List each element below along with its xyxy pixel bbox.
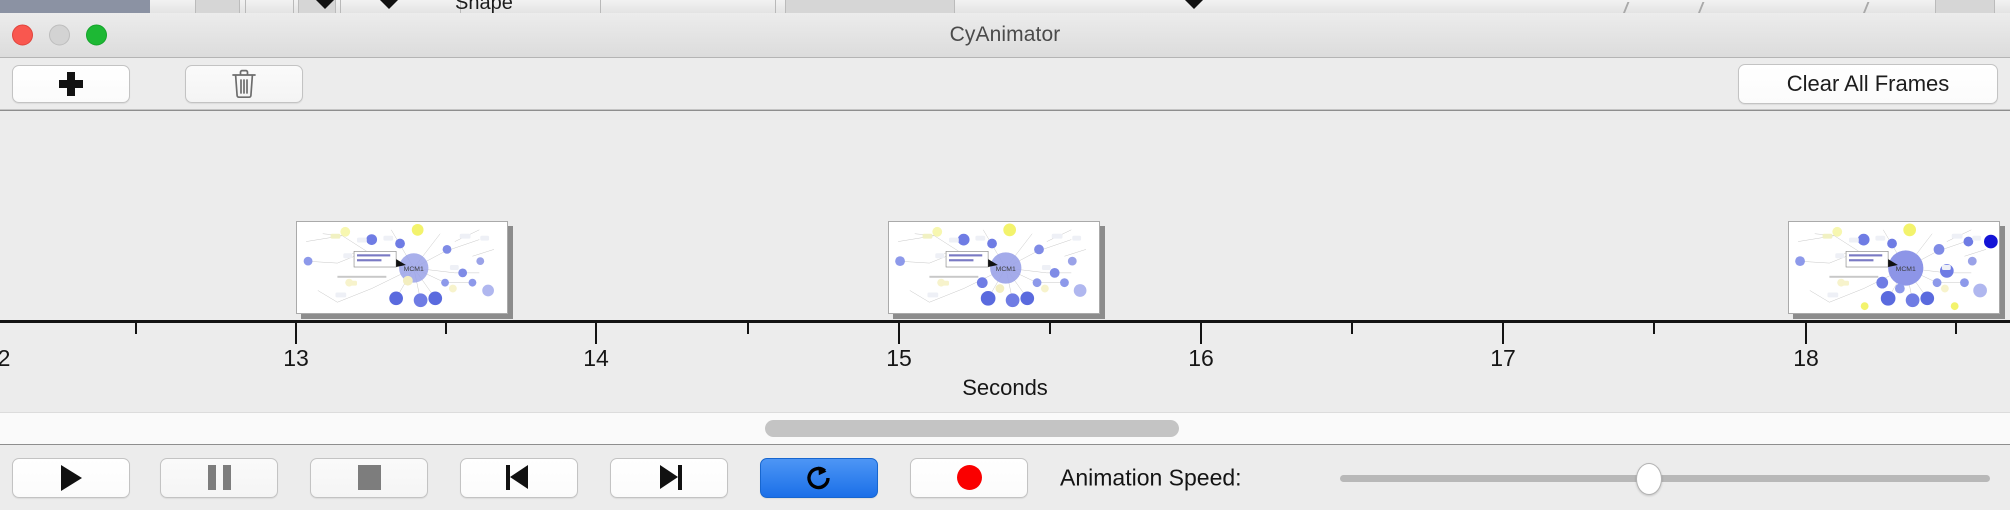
animation-speed-slider[interactable] [1340, 463, 1990, 493]
delete-frame-button[interactable] [185, 65, 303, 103]
background-slash [1698, 2, 1705, 13]
background-caret-icon [380, 0, 398, 9]
ruler-label: 18 [1793, 345, 1819, 372]
ruler-tick-major [295, 323, 297, 344]
background-divider [245, 0, 246, 13]
background-button [1935, 0, 1995, 13]
ruler-label: 13 [283, 345, 309, 372]
record-icon [957, 465, 982, 490]
trash-icon [231, 69, 257, 99]
svg-text:MCM1: MCM1 [996, 266, 1016, 273]
svg-text:MCM1: MCM1 [404, 266, 424, 273]
scrollbar-thumb[interactable] [765, 420, 1179, 437]
ruler-tick-major [595, 323, 597, 344]
ruler-tick-major [1502, 323, 1504, 344]
background-slash [1623, 2, 1630, 13]
ruler-tick-minor [445, 323, 447, 334]
animation-speed-label: Animation Speed: [1060, 464, 1242, 491]
ruler-tick-minor [747, 323, 749, 334]
clear-all-frames-button[interactable]: Clear All Frames [1738, 64, 1998, 104]
close-button[interactable] [12, 25, 33, 46]
ruler-tick-minor [1351, 323, 1353, 334]
stop-button[interactable] [310, 458, 428, 498]
stop-icon [358, 465, 381, 490]
background-divider [775, 0, 776, 13]
timeline-frame-thumbnail[interactable]: MCM1 [296, 221, 508, 314]
play-icon [61, 465, 82, 491]
pause-icon [208, 465, 231, 490]
timeline-horizontal-scrollbar[interactable] [0, 412, 2010, 445]
record-button[interactable] [910, 458, 1028, 498]
pause-button[interactable] [160, 458, 278, 498]
ruler-axis-title: Seconds [0, 375, 2010, 401]
plus-icon [58, 71, 84, 97]
background-divider [600, 0, 601, 13]
background-button [785, 0, 955, 13]
ruler-tick-minor [1955, 323, 1957, 334]
toolbar: Clear All Frames [0, 58, 2010, 110]
background-slash [1863, 2, 1870, 13]
timeline-panel[interactable]: MCM1 [0, 110, 2010, 412]
timeline-ruler[interactable]: 2 13 14 15 16 17 18 Seconds [0, 320, 2010, 412]
background-divider [293, 0, 294, 13]
background-divider [340, 0, 341, 13]
ruler-tick-major [1200, 323, 1202, 344]
ruler-label: 2 [0, 345, 10, 372]
add-frame-button[interactable] [12, 65, 130, 103]
ruler-label: 14 [583, 345, 609, 372]
slider-thumb[interactable] [1636, 463, 1662, 495]
ruler-tick-major [898, 323, 900, 344]
background-window-strip: Shape [0, 0, 2010, 13]
background-button [195, 0, 240, 13]
traffic-lights [12, 25, 107, 46]
window-title: CyAnimator [0, 23, 2010, 47]
timeline-frame-thumbnail[interactable]: MCM1 [1788, 221, 2000, 314]
loop-icon [805, 464, 833, 492]
skip-next-icon [656, 465, 682, 490]
timeline-frame-thumbnail[interactable]: MCM1 [888, 221, 1100, 314]
skip-next-button[interactable] [610, 458, 728, 498]
titlebar: CyAnimator [0, 13, 2010, 58]
background-dark-panel [0, 0, 150, 13]
background-caret-icon [1185, 0, 1203, 9]
ruler-label: 16 [1188, 345, 1214, 372]
ruler-tick-minor [1049, 323, 1051, 334]
ruler-label: 17 [1490, 345, 1516, 372]
cyanimator-window: Shape CyAnimator Clear All Frames [0, 0, 2010, 510]
loop-button[interactable] [760, 458, 878, 498]
minimize-button[interactable] [49, 25, 70, 46]
zoom-button[interactable] [86, 25, 107, 46]
ruler-label: 15 [886, 345, 912, 372]
skip-previous-icon [506, 465, 532, 490]
svg-text:MCM1: MCM1 [1896, 266, 1916, 273]
play-button[interactable] [12, 458, 130, 498]
skip-previous-button[interactable] [460, 458, 578, 498]
ruler-baseline [0, 320, 2010, 323]
playback-control-bar: Animation Speed: [0, 445, 2010, 510]
ruler-tick-minor [1653, 323, 1655, 334]
background-shape-label: Shape [455, 0, 513, 13]
slider-track [1340, 475, 1990, 482]
ruler-tick-major [1805, 323, 1807, 344]
ruler-tick-minor [135, 323, 137, 334]
background-caret-icon [316, 0, 334, 9]
